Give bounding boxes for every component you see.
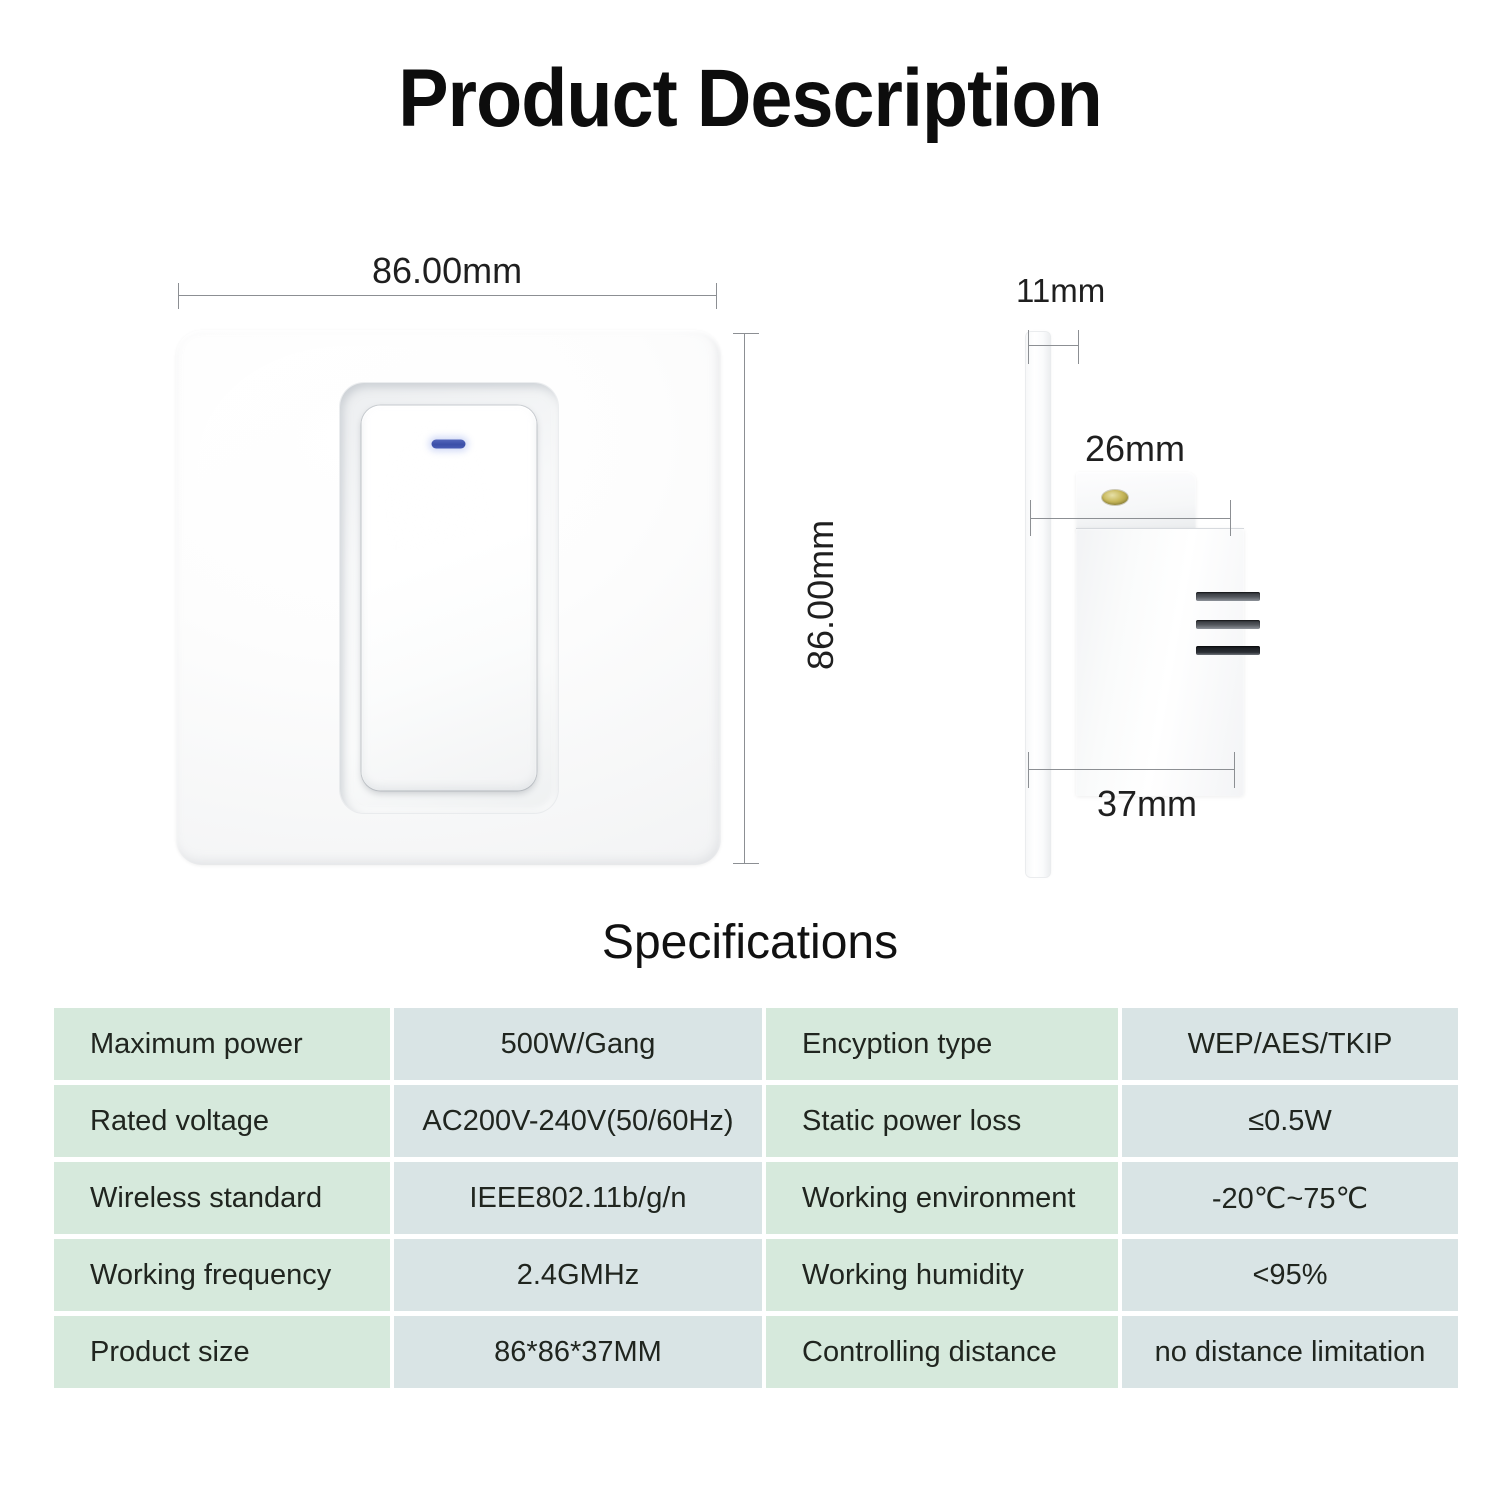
table-row: <95% bbox=[1122, 1239, 1458, 1311]
table-row: IEEE802.11b/g/n bbox=[394, 1162, 762, 1234]
front-width-cap-right bbox=[716, 283, 717, 309]
table-row: 86*86*37MM bbox=[394, 1316, 762, 1388]
depth-dimension-line bbox=[1028, 769, 1234, 770]
thickness-cap-right bbox=[1078, 330, 1079, 364]
table-row: Rated voltage bbox=[54, 1085, 390, 1157]
table-row: 500W/Gang bbox=[394, 1008, 762, 1080]
front-height-cap-bottom bbox=[733, 863, 759, 864]
table-row: -20℃~75℃ bbox=[1122, 1162, 1458, 1234]
led-indicator-icon bbox=[432, 439, 466, 448]
table-row: Maximum power bbox=[54, 1008, 390, 1080]
table-row: Static power loss bbox=[766, 1085, 1118, 1157]
table-row: Controlling distance bbox=[766, 1316, 1118, 1388]
front-view-switch bbox=[176, 330, 721, 865]
bracket-cap-left bbox=[1030, 500, 1031, 536]
thickness-cap-left bbox=[1028, 330, 1029, 364]
table-row: WEP/AES/TKIP bbox=[1122, 1008, 1458, 1080]
mounting-bracket bbox=[1076, 472, 1196, 532]
bracket-cap-right bbox=[1230, 500, 1231, 536]
specifications-heading: Specifications bbox=[0, 915, 1500, 970]
thickness-dimension-line bbox=[1028, 345, 1078, 346]
front-height-cap-top bbox=[733, 333, 759, 334]
table-row: Product size bbox=[54, 1316, 390, 1388]
terminal-slot-1 bbox=[1196, 592, 1260, 601]
table-row: no distance limitation bbox=[1122, 1316, 1458, 1388]
terminal-slot-2 bbox=[1196, 620, 1260, 629]
front-width-dimension-line bbox=[178, 295, 716, 296]
side-faceplate-edge bbox=[1026, 332, 1050, 877]
table-row: AC200V-240V(50/60Hz) bbox=[394, 1085, 762, 1157]
table-row: Working humidity bbox=[766, 1239, 1118, 1311]
depth-cap-right bbox=[1234, 752, 1235, 788]
brass-screw-icon bbox=[1102, 490, 1128, 505]
bracket-label: 26mm bbox=[1085, 428, 1185, 470]
terminal-slot-3 bbox=[1196, 646, 1260, 655]
front-width-cap-left bbox=[178, 283, 179, 309]
bracket-dimension-line bbox=[1030, 518, 1230, 519]
rocker-button[interactable] bbox=[361, 405, 536, 790]
front-height-label: 86.00mm bbox=[800, 520, 842, 670]
table-row: Encyption type bbox=[766, 1008, 1118, 1080]
table-row: 2.4GMHz bbox=[394, 1239, 762, 1311]
body-seam bbox=[1076, 528, 1244, 529]
depth-cap-left bbox=[1028, 752, 1029, 788]
table-row: ≤0.5W bbox=[1122, 1085, 1458, 1157]
table-row: Wireless standard bbox=[54, 1162, 390, 1234]
switch-body bbox=[1076, 528, 1244, 796]
depth-label: 37mm bbox=[1097, 783, 1197, 825]
specifications-table: Maximum power 500W/Gang Encyption type W… bbox=[54, 1008, 1446, 1388]
front-width-label: 86.00mm bbox=[372, 250, 522, 292]
thickness-label: 11mm bbox=[1016, 272, 1105, 310]
table-row: Working environment bbox=[766, 1162, 1118, 1234]
table-row: Working frequency bbox=[54, 1239, 390, 1311]
front-height-dimension-line bbox=[744, 333, 745, 863]
product-diagram: 86.00mm 86.00mm 11mm 26mm 37mm bbox=[0, 0, 1500, 920]
